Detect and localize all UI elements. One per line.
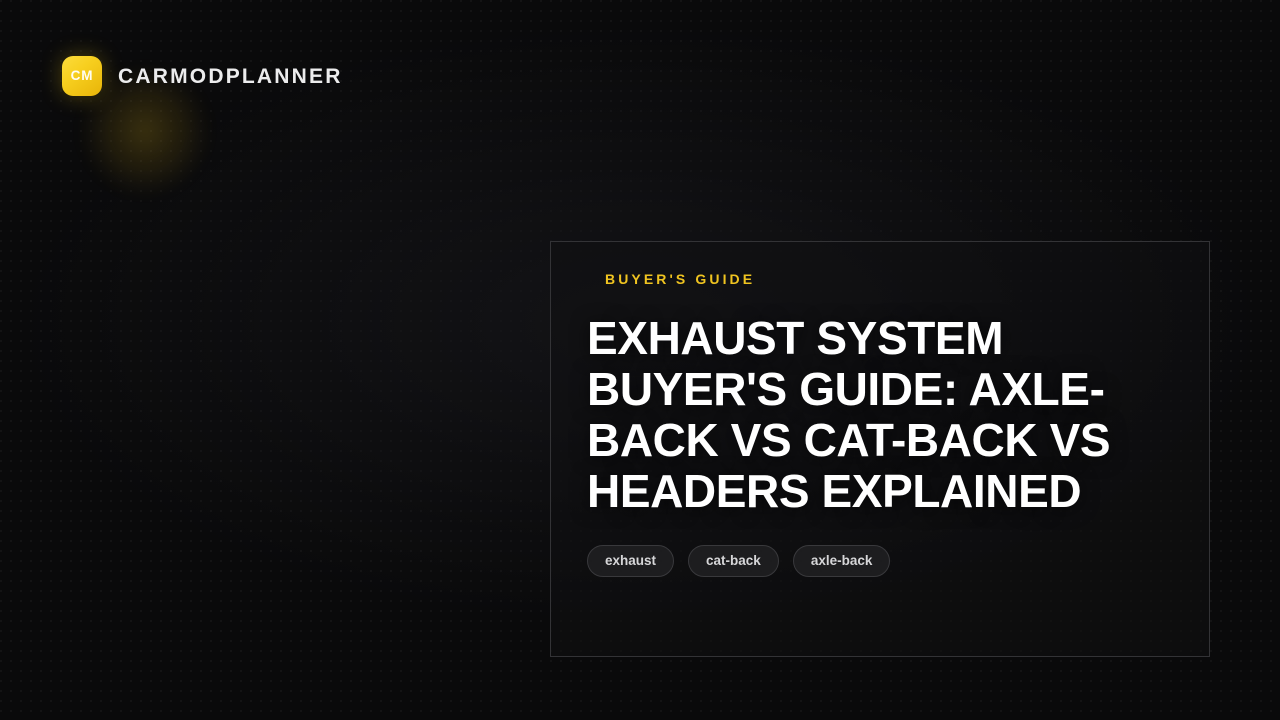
tag-pill-axle-back[interactable]: axle-back <box>793 545 891 577</box>
tag-pill-exhaust[interactable]: exhaust <box>587 545 674 577</box>
tag-pill-cat-back[interactable]: cat-back <box>688 545 779 577</box>
brand-badge-icon[interactable]: CM <box>62 56 102 96</box>
hero-eyebrow-label: BUYER'S GUIDE <box>605 272 1187 286</box>
page-title: EXHAUST SYSTEM BUYER'S GUIDE: AXLE-BACK … <box>587 313 1187 517</box>
brand-badge-initials: CM <box>71 69 94 83</box>
tag-list: exhaust cat-back axle-back <box>587 545 1187 577</box>
brand-logo[interactable]: CM CARMODPLANNER <box>62 56 343 96</box>
brand-wordmark: CARMODPLANNER <box>118 66 343 87</box>
hero-content: BUYER'S GUIDE EXHAUST SYSTEM BUYER'S GUI… <box>587 272 1187 577</box>
